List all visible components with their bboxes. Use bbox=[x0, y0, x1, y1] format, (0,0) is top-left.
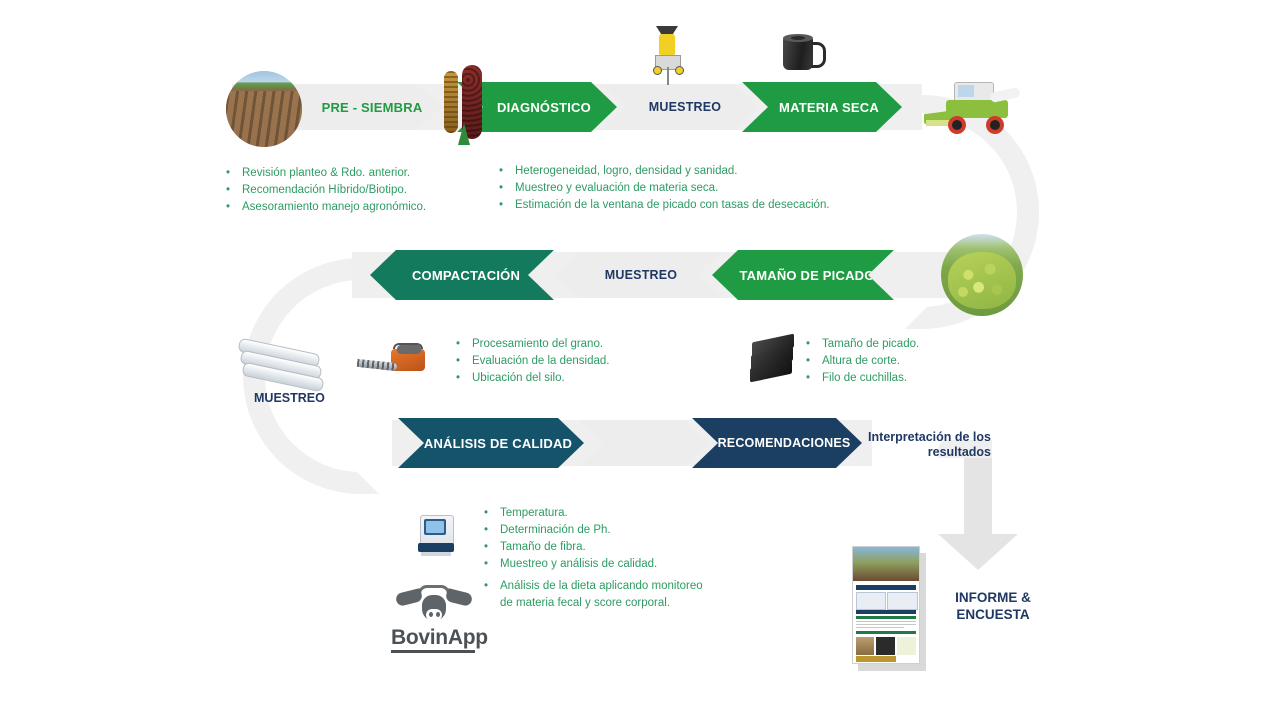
bullet-dot: • bbox=[484, 556, 500, 573]
bullet-dot: • bbox=[484, 539, 500, 556]
step-analisis-de-calidad[interactable]: ANÁLISIS DE CALIDAD bbox=[398, 418, 584, 468]
bullet-dot: • bbox=[806, 370, 822, 387]
bullet-dot: • bbox=[806, 353, 822, 370]
bullet-dot: • bbox=[226, 182, 242, 199]
bullet-text: de materia fecal y score corporal. bbox=[500, 595, 670, 612]
bullet-dot: • bbox=[484, 505, 500, 522]
bullet-dot: • bbox=[499, 197, 515, 214]
row1-bullets-left: • Revisión planteo & Rdo. anterior. • Re… bbox=[226, 165, 426, 216]
cow-head-icon bbox=[396, 585, 472, 627]
bullet-text: Recomendación Híbrido/Biotipo. bbox=[242, 182, 407, 199]
lab-analyzer-icon bbox=[418, 513, 454, 559]
label-interpretacion-resultados: Interpretación de los resultados bbox=[845, 430, 991, 460]
step-muestreo-row1-label: MUESTREO bbox=[639, 100, 721, 114]
step-materia-seca-label: MATERIA SECA bbox=[765, 100, 879, 115]
step-recomendaciones-label: RECOMENDACIONES bbox=[704, 436, 851, 450]
outcome-line-1: INFORME & bbox=[930, 589, 1056, 606]
bullet-dot: • bbox=[484, 522, 500, 539]
bullet-text: Determinación de Ph. bbox=[500, 522, 611, 539]
step-tamano-de-picado[interactable]: TAMAÑO DE PICADO bbox=[712, 250, 894, 300]
chipper-machine-icon bbox=[648, 26, 688, 76]
kettle-scale-icon bbox=[781, 32, 825, 76]
bullet-text: Evaluación de la densidad. bbox=[472, 353, 609, 370]
sieve-box-icon bbox=[748, 336, 802, 388]
row3-bullets-second: • Análisis de la dieta aplicando monitor… bbox=[484, 578, 703, 612]
label-muestreo-silo: MUESTREO bbox=[254, 391, 325, 405]
bullet-dot: • bbox=[226, 199, 242, 216]
bullet-text: Tamaño de picado. bbox=[822, 336, 919, 353]
step-diagnostico-label: DIAGNÓSTICO bbox=[483, 100, 591, 115]
bullet-dot: • bbox=[456, 336, 472, 353]
bullet-dot: • bbox=[484, 578, 500, 595]
bullet-text: Análisis de la dieta aplicando monitoreo bbox=[500, 578, 703, 595]
bullet-text: Temperatura. bbox=[500, 505, 568, 522]
bullet-dot: • bbox=[499, 163, 515, 180]
bullet-text: Procesamiento del grano. bbox=[472, 336, 603, 353]
interpretacion-line-1: Interpretación de los bbox=[845, 430, 991, 445]
bullet-text: Tamaño de fibra. bbox=[500, 539, 586, 556]
field-photo-icon bbox=[226, 71, 302, 147]
bullet-text: Ubicación del silo. bbox=[472, 370, 565, 387]
bullet-text: Estimación de la ventana de picado con t… bbox=[515, 197, 830, 214]
interpretacion-line-2: resultados bbox=[845, 445, 991, 460]
step-compactacion-label: COMPACTACIÓN bbox=[404, 268, 520, 283]
row1-bullets-right: • Heterogeneidad, logro, densidad y sani… bbox=[499, 163, 830, 214]
forage-harvester-icon bbox=[924, 78, 1024, 136]
step-analisis-de-calidad-label: ANÁLISIS DE CALIDAD bbox=[410, 436, 572, 451]
silo-bags-icon bbox=[238, 340, 324, 390]
outcome-line-2: ENCUESTA bbox=[930, 606, 1056, 623]
diagram-canvas: PRE - SIEMBRA DIAGNÓSTICO MUESTREO MATER… bbox=[0, 0, 1280, 720]
corn-sorghum-icon bbox=[440, 63, 490, 141]
bullet-dot: • bbox=[499, 180, 515, 197]
bullet-text: Muestreo y evaluación de materia seca. bbox=[515, 180, 718, 197]
bullet-text: Heterogeneidad, logro, densidad y sanida… bbox=[515, 163, 738, 180]
step-compactacion[interactable]: COMPACTACIÓN bbox=[370, 250, 554, 300]
bullet-text: Asesoramiento manejo agronómico. bbox=[242, 199, 426, 216]
silage-handful-photo-icon bbox=[941, 234, 1023, 316]
outcome-label: INFORME & ENCUESTA bbox=[930, 589, 1056, 623]
chainsaw-icon bbox=[357, 343, 433, 381]
bullet-dot: • bbox=[806, 336, 822, 353]
report-header-image bbox=[853, 547, 919, 581]
step-tamano-de-picado-label: TAMAÑO DE PICADO bbox=[731, 268, 874, 283]
row2-bullets-left: • Procesamiento del grano. • Evaluación … bbox=[456, 336, 609, 387]
bullet-dot: • bbox=[456, 353, 472, 370]
bullet-dot: • bbox=[226, 165, 242, 182]
report-document-icon bbox=[852, 546, 920, 664]
bullet-text: Altura de corte. bbox=[822, 353, 900, 370]
bullet-dot: • bbox=[456, 370, 472, 387]
row2-bullets-right: • Tamaño de picado. • Altura de corte. •… bbox=[806, 336, 919, 387]
bovinapp-underline bbox=[391, 650, 475, 653]
row3-bullets: • Temperatura. • Determinación de Ph. • … bbox=[484, 505, 657, 573]
step-muestreo-row2-label: MUESTREO bbox=[599, 268, 677, 282]
bullet-text: Muestreo y análisis de calidad. bbox=[500, 556, 657, 573]
bullet-text: Revisión planteo & Rdo. anterior. bbox=[242, 165, 410, 182]
bovinapp-wordmark: BovinApp bbox=[391, 626, 488, 650]
bullet-text: Filo de cuchillas. bbox=[822, 370, 907, 387]
connector-down-arrow bbox=[938, 448, 1018, 570]
